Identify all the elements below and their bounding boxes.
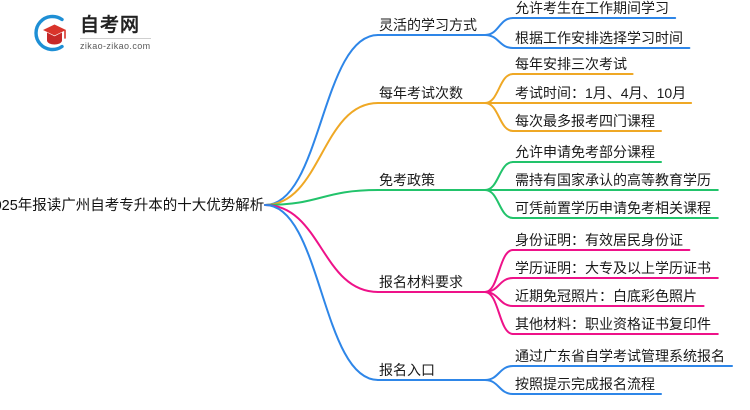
branch-node-3[interactable]: 免考政策 xyxy=(379,170,435,190)
leaf-node-2-3[interactable]: 每次最多报考四门课程 xyxy=(515,111,655,131)
leaf-node-2-2[interactable]: 考试时间：1月、4月、10月 xyxy=(515,83,686,103)
branch-node-1[interactable]: 灵活的学习方式 xyxy=(379,15,477,35)
leaf-node-4-3[interactable]: 近期免冠照片：白底彩色照片 xyxy=(515,286,697,306)
leaf-node-4-1[interactable]: 身份证明：有效居民身份证 xyxy=(515,230,683,250)
leaf-node-5-1[interactable]: 通过广东省自学考试管理系统报名 xyxy=(515,346,725,366)
branch-node-4[interactable]: 报名材料要求 xyxy=(379,272,463,292)
leaf-node-3-2[interactable]: 需持有国家承认的高等教育学历 xyxy=(515,170,711,190)
branch-node-5[interactable]: 报名入口 xyxy=(379,360,435,380)
leaf-node-4-2[interactable]: 学历证明：大专及以上学历证书 xyxy=(515,258,711,278)
branch-node-2[interactable]: 每年考试次数 xyxy=(379,83,463,103)
leaf-node-3-3[interactable]: 可凭前置学历申请免考相关课程 xyxy=(515,198,711,218)
root-node[interactable]: 2025年报读广州自考专升本的十大优势解析 xyxy=(0,194,264,215)
leaf-node-1-2[interactable]: 根据工作安排选择学习时间 xyxy=(515,28,683,48)
leaf-node-4-4[interactable]: 其他材料：职业资格证书复印件 xyxy=(515,314,711,334)
leaf-node-1-1[interactable]: 允许考生在工作期间学习 xyxy=(515,0,669,18)
leaf-node-5-2[interactable]: 按照提示完成报名流程 xyxy=(515,374,655,394)
leaf-node-2-1[interactable]: 每年安排三次考试 xyxy=(515,54,627,74)
leaf-node-3-1[interactable]: 允许申请免考部分课程 xyxy=(515,142,655,162)
mindmap-canvas: 自考网 zikao-zikao.com 2025年报读广州自考专升本的十大优势解… xyxy=(0,0,750,410)
